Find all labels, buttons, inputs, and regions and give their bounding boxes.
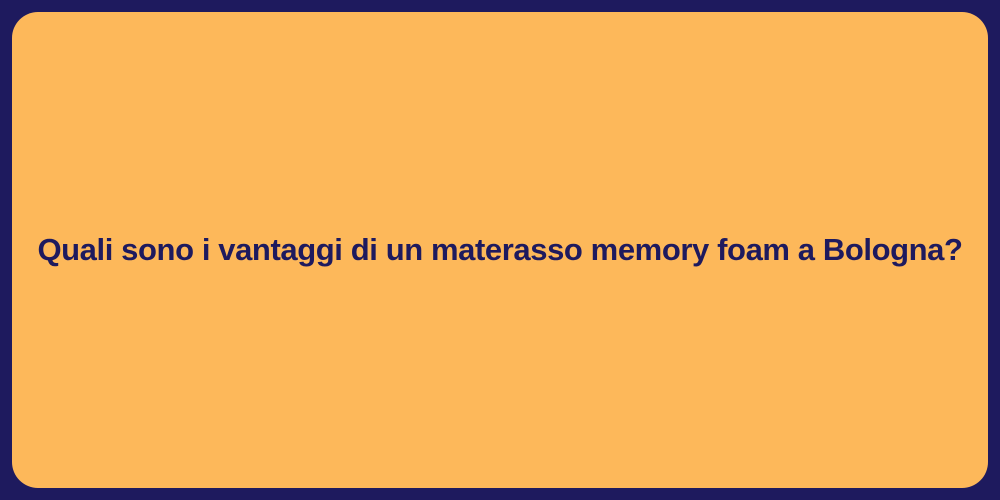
question-card-panel: Quali sono i vantaggi di un materasso me… [12, 12, 988, 488]
page-title: Quali sono i vantaggi di un materasso me… [32, 232, 968, 269]
question-card-frame: Quali sono i vantaggi di un materasso me… [0, 0, 1000, 500]
